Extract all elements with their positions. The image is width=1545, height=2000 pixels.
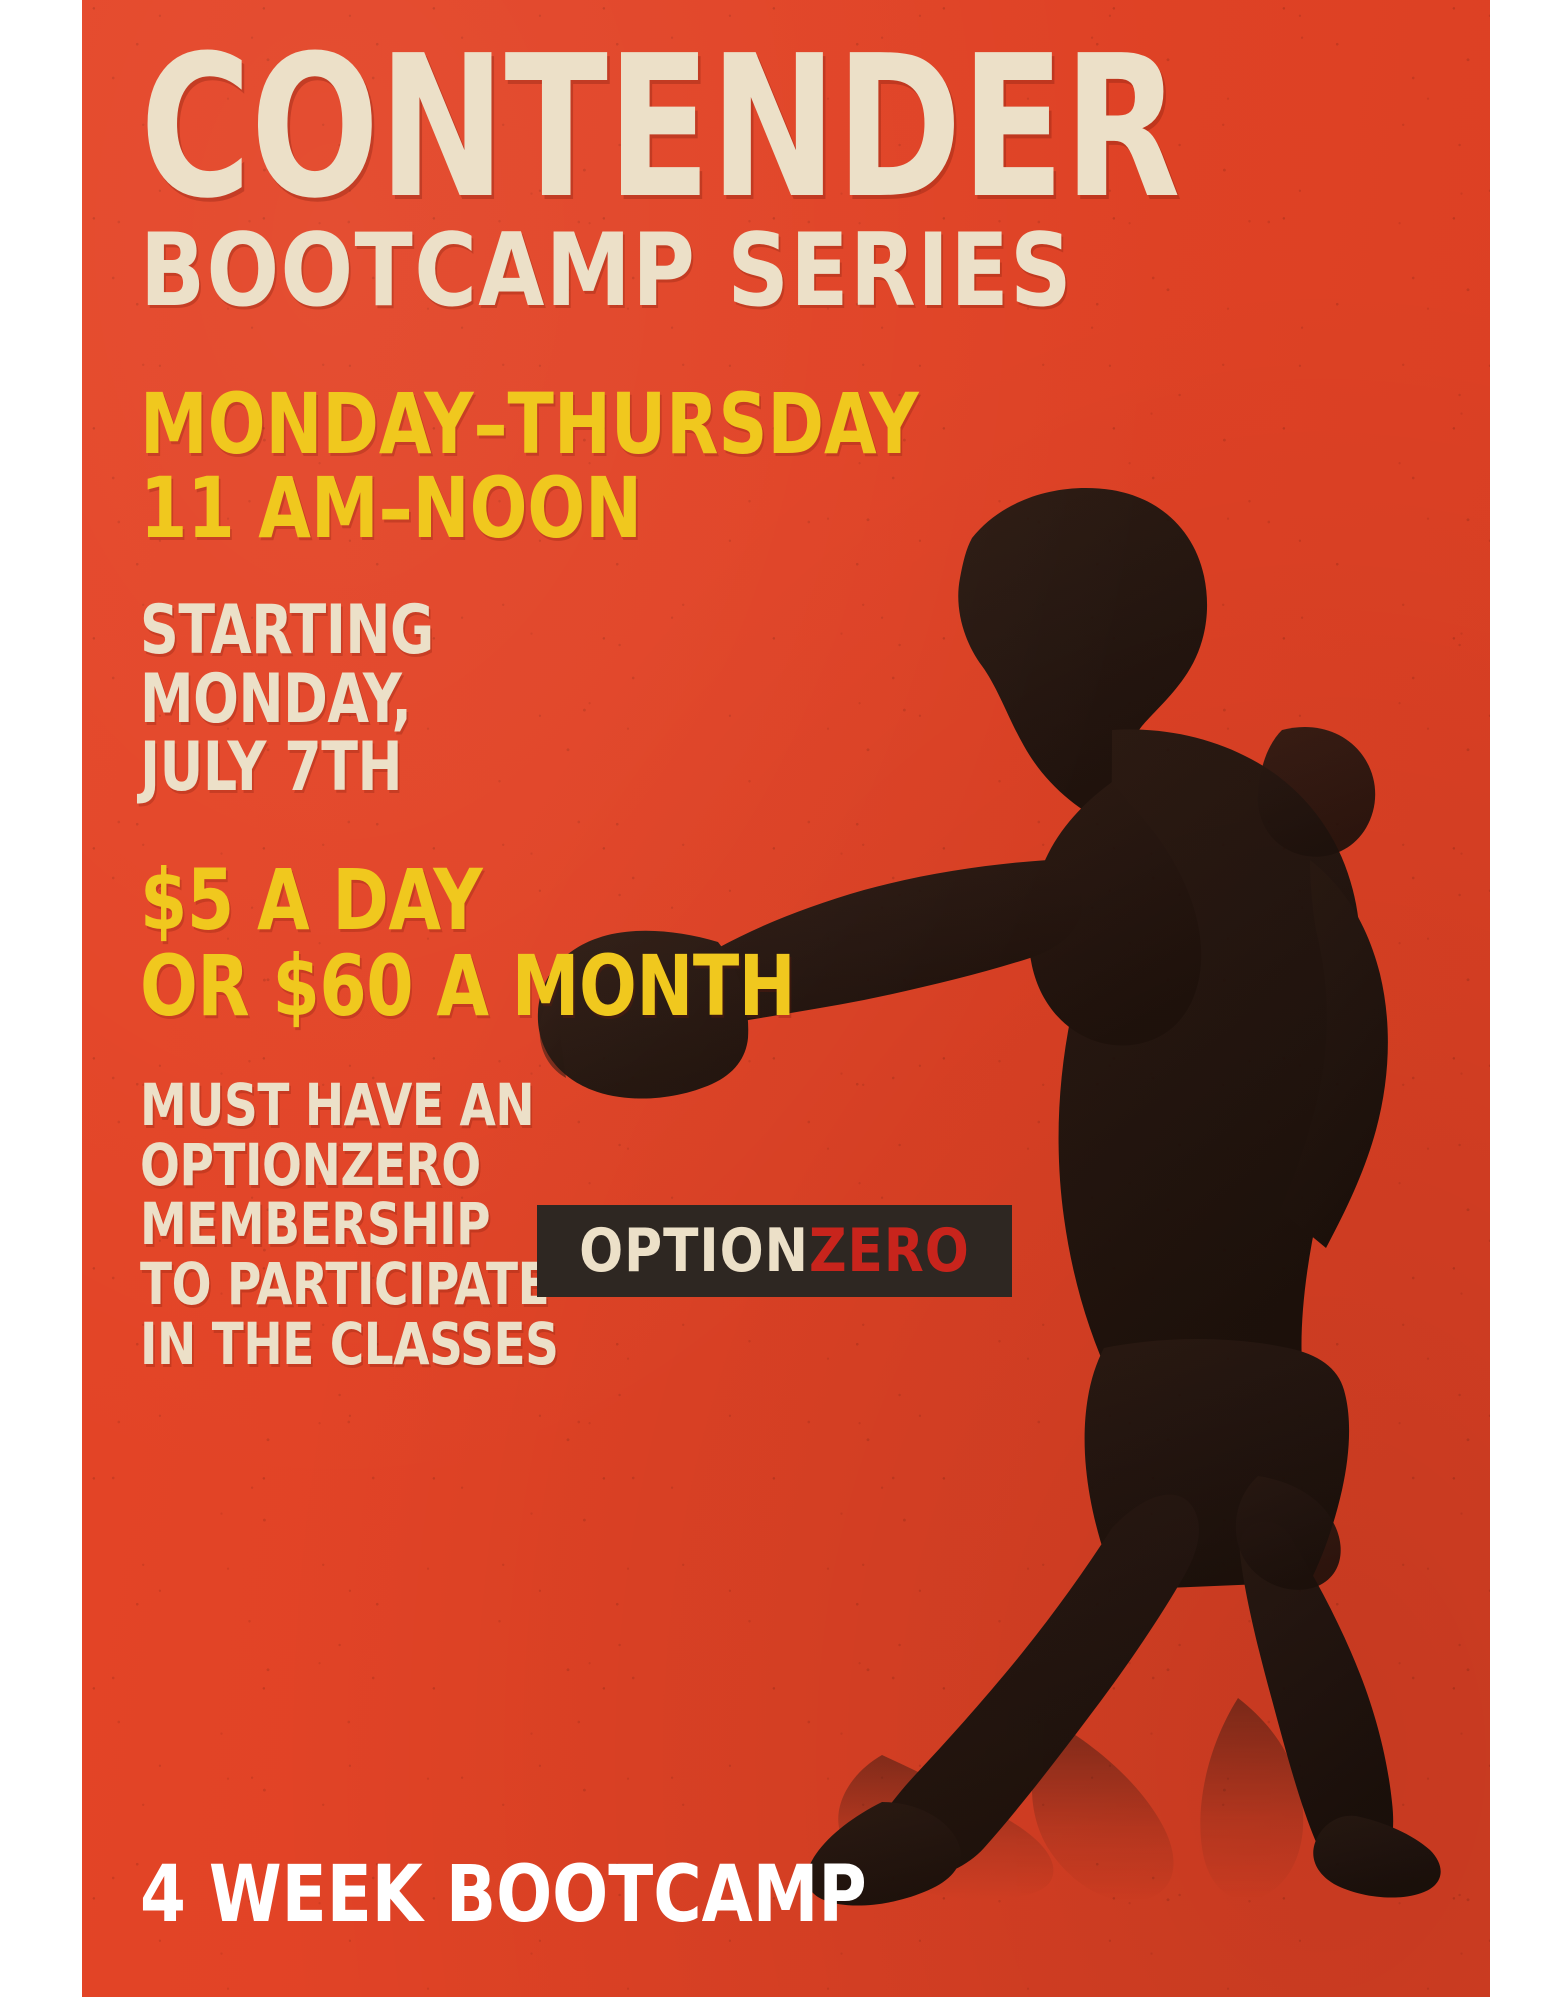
requirement-line-2: OPTIONZERO [140,1136,559,1196]
start-date-line-1: STARTING [140,597,434,666]
schedule-block: MONDAY–THURSDAY 11 AM–NOON [140,382,1005,550]
requirement-line-4: TO PARTICIPATE [140,1255,559,1315]
optionzero-wordmark: OPTIONZERO [579,1221,970,1281]
start-date-line-3: JULY 7TH [140,734,434,803]
headline-block: CONTENDER BOOTCAMP SERIES [140,42,1440,319]
price-block: $5 A DAY OR $60 A MONTH [140,858,868,1029]
price-daily: $5 A DAY [140,858,795,944]
optionzero-word-zero: ZERO [809,1216,970,1286]
optionzero-logo-badge: OPTIONZERO [537,1205,1012,1297]
schedule-time: 11 AM–NOON [140,466,919,550]
membership-requirement-block: MUST HAVE AN OPTIONZERO MEMBERSHIP TO PA… [140,1076,605,1375]
start-date-block: STARTING MONDAY, JULY 7TH [140,597,474,803]
start-date-line-2: MONDAY, [140,666,434,735]
schedule-days: MONDAY–THURSDAY [140,382,919,466]
poster-root: CONTENDER BOOTCAMP SERIES MONDAY–THURSDA… [0,0,1545,2000]
bottom-banner-text: 4 WEEK BOOTCAMP [140,1856,1268,1934]
requirement-line-1: MUST HAVE AN [140,1076,559,1136]
requirement-line-3: MEMBERSHIP [140,1195,559,1255]
price-monthly: OR $60 A MONTH [140,944,795,1030]
requirement-line-5: IN THE CLASSES [140,1315,559,1375]
poster-title: CONTENDER [140,42,1258,214]
poster-subtitle: BOOTCAMP SERIES [140,222,1362,319]
bottom-banner: 4 WEEK BOOTCAMP [140,1856,1340,1934]
boxer-figure [538,488,1441,1906]
optionzero-word-option: OPTION [579,1216,809,1286]
poster-canvas: CONTENDER BOOTCAMP SERIES MONDAY–THURSDA… [82,0,1490,1997]
